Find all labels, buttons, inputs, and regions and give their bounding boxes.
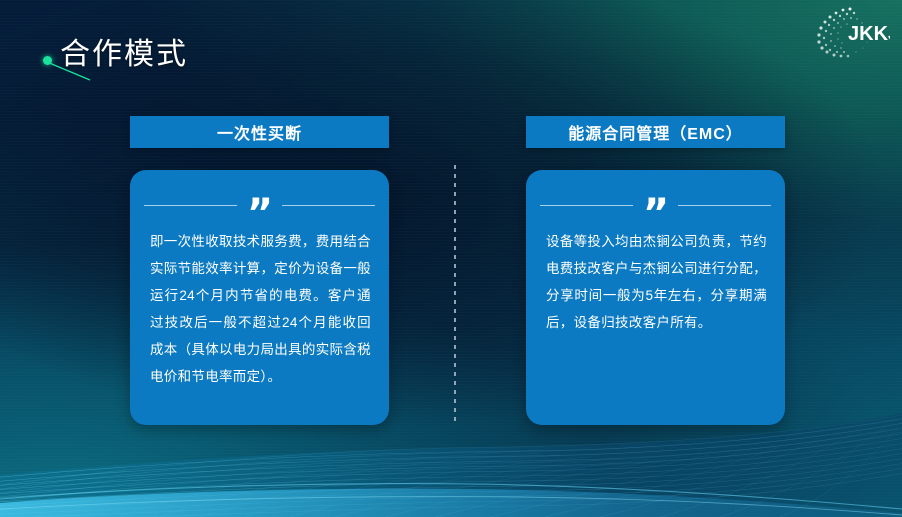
card-text-one-time-buyout: 即一次性收取技术服务费，费用结合实际节能效率计算，定价为设备一般运行24个月内节… (150, 228, 371, 390)
card-body-emc: ” 设备等投入均由杰锏公司负责，节约电费技改客户与杰锏公司进行分配，分享时间一般… (526, 170, 785, 425)
title-bullet-dot (43, 56, 52, 65)
quote-rule-right (282, 205, 375, 206)
slide-canvas: JKKJ 合作模式 一次性买断 ” (0, 0, 902, 517)
logo-wordmark: JKKJ (848, 23, 890, 45)
card-body-one-time-buyout: ” 即一次性收取技术服务费，费用结合实际节能效率计算，定价为设备一般运行24个月… (130, 170, 389, 425)
quote-rule-right (678, 205, 771, 206)
page-title-block: 合作模式 (40, 40, 370, 90)
quote-rule-left (144, 205, 237, 206)
card-header-one-time-buyout[interactable]: 一次性买断 (130, 116, 389, 148)
card-text-emc: 设备等投入均由杰锏公司负责，节约电费技改客户与杰锏公司进行分配，分享时间一般为5… (546, 228, 767, 336)
quote-decoration-row: ” (540, 192, 771, 218)
card-header-emc[interactable]: 能源合同管理（EMC） (526, 116, 785, 148)
brand-logo: JKKJ (810, 2, 890, 60)
quote-rule-left (540, 205, 633, 206)
quote-decoration-row: ” (144, 192, 375, 218)
column-divider (454, 165, 456, 423)
page-title: 合作模式 (60, 35, 188, 75)
